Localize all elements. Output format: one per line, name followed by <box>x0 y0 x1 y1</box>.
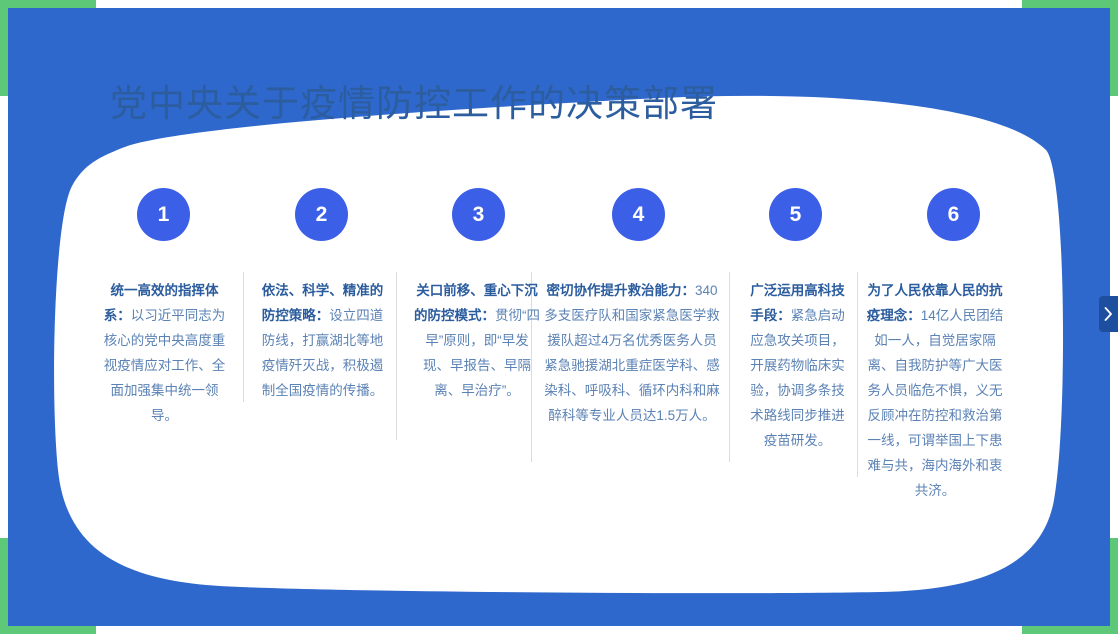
column-divider-2 <box>396 272 397 440</box>
step-badge-2: 2 <box>295 188 348 241</box>
step-text-1: 统一高效的指挥体系：以习近平同志为核心的党中央高度重视疫情应对工作、全面加强集中… <box>102 278 227 428</box>
step-badge-6: 6 <box>927 188 980 241</box>
slide-content: 党中央关于疫情防控工作的决策部署 1 2 3 4 5 6 统一高效的指挥体系：以… <box>0 0 1118 634</box>
step-badge-4: 4 <box>612 188 665 241</box>
presentation-slide: 党中央关于疫情防控工作的决策部署 1 2 3 4 5 6 统一高效的指挥体系：以… <box>0 0 1118 634</box>
column-divider-4 <box>729 272 730 462</box>
step-body-6: 14亿人民团结如一人，自觉居家隔离、自我防护等广大医务人员临危不惧，义无反顾冲在… <box>868 308 1004 498</box>
next-slide-button[interactable] <box>1099 296 1118 332</box>
step-text-5: 广泛运用高科技手段：紧急启动应急攻关项目，开展药物临床实验，协调多条技术路线同步… <box>745 278 850 453</box>
step-body-5: 紧急启动应急攻关项目，开展药物临床实验，协调多条技术路线同步推进疫苗研发。 <box>750 308 845 448</box>
chevron-right-icon <box>1104 307 1113 321</box>
step-badge-3: 3 <box>452 188 505 241</box>
step-text-6: 为了人民依靠人民的抗疫理念：14亿人民团结如一人，自觉居家隔离、自我防护等广大医… <box>866 278 1004 503</box>
column-divider-1 <box>243 272 244 402</box>
step-text-3: 关口前移、重心下沉的防控模式：贯彻“四早”原则，即“早发现、早报告、早隔离、早治… <box>412 278 542 403</box>
page-title: 党中央关于疫情防控工作的决策部署 <box>110 82 718 126</box>
step-badge-5: 5 <box>769 188 822 241</box>
step-body-4: 340多支医疗队和国家紧急医学救援队超过4万名优秀医务人员紧急驰援湖北重症医学科… <box>544 283 720 423</box>
column-divider-5 <box>857 272 858 477</box>
step-text-2: 依法、科学、精准的防控策略：设立四道防线，打赢湖北等地疫情歼灭战，积极遏制全国疫… <box>260 278 385 403</box>
step-body-1: 以习近平同志为核心的党中央高度重视疫情应对工作、全面加强集中统一领导。 <box>104 308 226 423</box>
step-text-4: 密切协作提升救治能力：340多支医疗队和国家紧急医学救援队超过4万名优秀医务人员… <box>543 278 721 428</box>
step-lead-4: 密切协作提升救治能力： <box>546 283 695 298</box>
step-badge-1: 1 <box>137 188 190 241</box>
